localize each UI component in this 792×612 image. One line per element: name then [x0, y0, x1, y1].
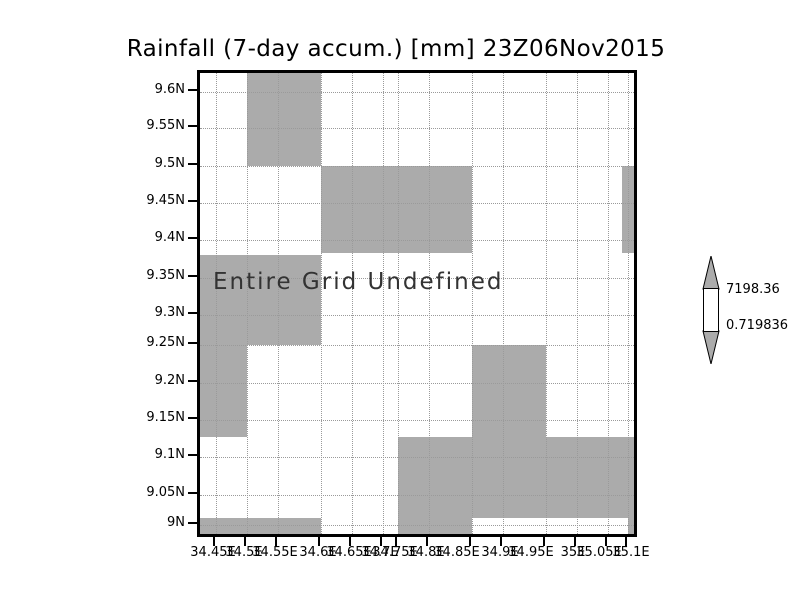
x-axis-label: 34.55E: [248, 545, 302, 560]
colorbar-legend[interactable]: 7198.36 0.719836: [698, 256, 724, 364]
y-tick: [188, 275, 197, 277]
gridline-horizontal: [200, 525, 634, 526]
undefined-grid-message: Entire Grid Undefined: [213, 269, 504, 295]
plot-canvas: Entire Grid Undefined: [200, 73, 634, 534]
colorbar-min-label: 0.719836: [726, 318, 788, 333]
y-axis-label: 9.15N: [101, 410, 185, 425]
gridline-vertical: [628, 73, 629, 534]
gridline-horizontal: [200, 383, 634, 384]
gridline-horizontal: [200, 345, 634, 346]
gridline-vertical: [577, 73, 578, 534]
y-tick: [188, 454, 197, 456]
y-tick: [188, 200, 197, 202]
y-tick: [188, 342, 197, 344]
y-axis-label: 9.6N: [101, 82, 185, 97]
data-cell: [398, 437, 637, 518]
x-axis-label: 35.1E: [608, 545, 654, 560]
data-cell: [398, 518, 472, 537]
y-axis-label: 9.2N: [101, 373, 185, 388]
y-tick: [188, 417, 197, 419]
gridline-vertical: [352, 73, 353, 534]
y-tick: [188, 522, 197, 524]
y-axis-label: 9.1N: [101, 447, 185, 462]
gridline-horizontal: [200, 495, 634, 496]
gridline-vertical: [216, 73, 217, 534]
x-axis-label: 34.85E: [430, 545, 484, 560]
y-axis-label: 9.55N: [101, 118, 185, 133]
gridline-vertical: [321, 73, 322, 534]
y-tick: [188, 492, 197, 494]
gridline-vertical: [383, 73, 384, 534]
gridline-vertical: [278, 73, 279, 534]
y-axis-label: 9.4N: [101, 230, 185, 245]
gridline-horizontal: [200, 457, 634, 458]
gridline-horizontal: [200, 128, 634, 129]
y-axis-label: 9.25N: [101, 335, 185, 350]
gridline-vertical: [247, 73, 248, 534]
data-cell: [197, 345, 247, 437]
y-axis-label: 9.05N: [101, 485, 185, 500]
gridline-vertical: [503, 73, 504, 534]
y-axis-label: 9.3N: [101, 305, 185, 320]
y-axis-label: 9.5N: [101, 156, 185, 171]
gridline-horizontal: [200, 166, 634, 167]
y-axis-label: 9N: [101, 515, 185, 530]
y-tick: [188, 125, 197, 127]
data-cell: [472, 345, 546, 437]
x-axis-label: 34.95E: [504, 545, 558, 560]
gridline-horizontal: [200, 240, 634, 241]
gridline-vertical: [472, 73, 473, 534]
gridline-horizontal: [200, 203, 634, 204]
y-tick: [188, 312, 197, 314]
colorbar-middle-box: [703, 288, 719, 332]
page-title: Rainfall (7-day accum.) [mm] 23Z06Nov201…: [0, 36, 792, 62]
y-axis-label: 9.35N: [101, 268, 185, 283]
y-axis-label: 9.45N: [101, 193, 185, 208]
gridline-vertical: [608, 73, 609, 534]
gridline-horizontal: [200, 420, 634, 421]
y-tick: [188, 89, 197, 91]
gridline-horizontal: [200, 315, 634, 316]
y-tick: [188, 237, 197, 239]
gridline-vertical: [429, 73, 430, 534]
data-cell: [247, 70, 321, 166]
y-tick: [188, 163, 197, 165]
y-tick: [188, 380, 197, 382]
gridline-vertical: [546, 73, 547, 534]
plot-page: Rainfall (7-day accum.) [mm] 23Z06Nov201…: [0, 0, 792, 612]
gridline-horizontal: [200, 92, 634, 93]
data-cell: [628, 518, 637, 537]
colorbar-max-label: 7198.36: [726, 282, 780, 297]
gridline-vertical: [398, 73, 399, 534]
plot-area[interactable]: Entire Grid Undefined: [197, 70, 637, 537]
